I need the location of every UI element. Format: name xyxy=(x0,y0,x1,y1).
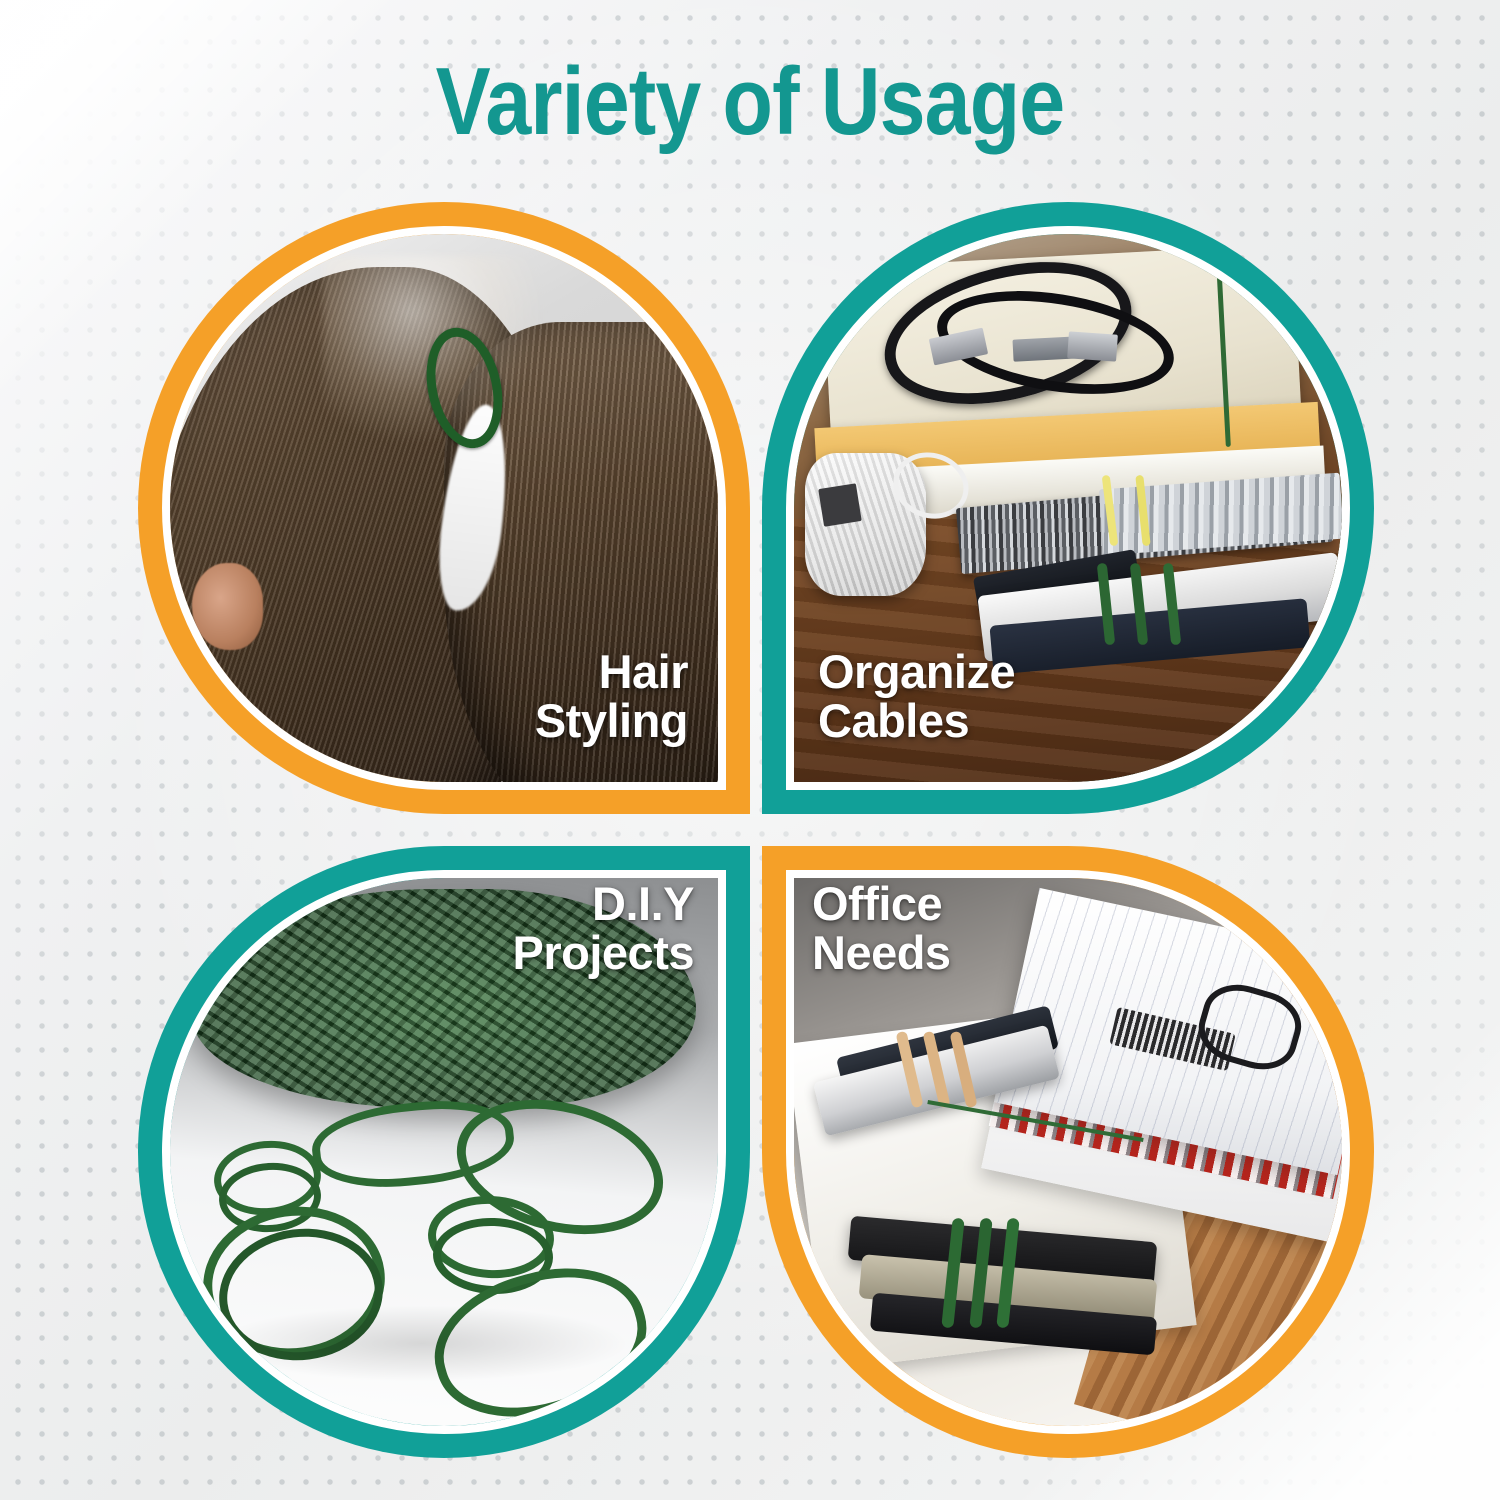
label-office-needs: Office Needs xyxy=(812,880,951,978)
petal-grid: Hair Styling Organize Cables D.I.Y Proje… xyxy=(0,0,1500,1500)
label-diy-projects: D.I.Y Projects xyxy=(513,880,694,978)
ear-shape xyxy=(192,563,263,651)
diy-soft-shadow xyxy=(214,1305,630,1382)
adapter-connector xyxy=(819,483,863,527)
label-hair-styling: Hair Styling xyxy=(535,648,688,746)
infographic-canvas: Variety of Usage xyxy=(0,0,1500,1500)
usb-connector-b xyxy=(1067,331,1118,362)
label-organize-cables: Organize Cables xyxy=(818,648,1015,746)
